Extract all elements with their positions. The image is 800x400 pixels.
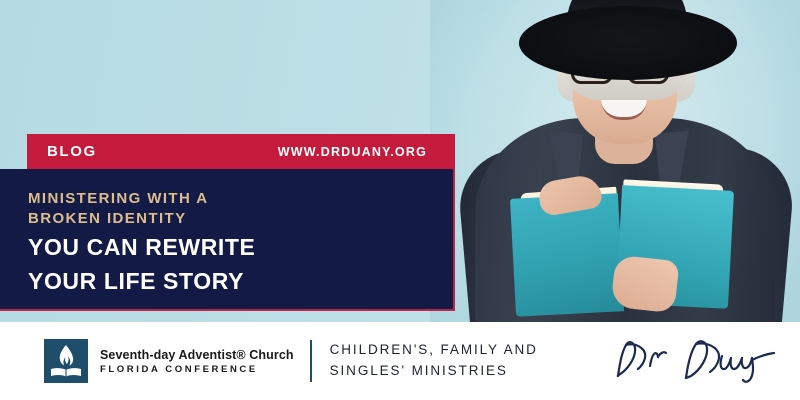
blog-label: BLOG bbox=[47, 143, 97, 160]
ministries-line-1: CHILDREN'S, FAMILY AND bbox=[330, 340, 538, 361]
hand-right bbox=[610, 255, 679, 313]
footer-divider bbox=[310, 340, 312, 382]
footer: Seventh-day Adventist® Church FLORIDA CO… bbox=[0, 322, 800, 400]
blog-bar: BLOG WWW.DRDUANY.ORG bbox=[27, 134, 455, 169]
kicker-line-1: MINISTERING WITH A bbox=[28, 189, 453, 209]
sda-wordmark-line-2: FLORIDA CONFERENCE bbox=[100, 364, 294, 375]
headline-line-2: YOUR LIFE STORY bbox=[28, 268, 453, 296]
ministries-line-2: SINGLES' MINISTRIES bbox=[330, 361, 538, 382]
headline-box: MINISTERING WITH A BROKEN IDENTITY YOU C… bbox=[0, 169, 455, 311]
sda-wordmark: Seventh-day Adventist® Church FLORIDA CO… bbox=[100, 348, 294, 375]
ministries-title: CHILDREN'S, FAMILY AND SINGLES' MINISTRI… bbox=[330, 340, 538, 382]
kicker-line-2: BROKEN IDENTITY bbox=[28, 209, 453, 229]
sda-flame-book-logo-icon bbox=[44, 339, 88, 383]
blog-promo-banner: BLOG WWW.DRDUANY.ORG MINISTERING WITH A … bbox=[0, 0, 800, 400]
signature-dr-duany bbox=[606, 332, 778, 390]
hat-brim bbox=[519, 6, 737, 80]
photo-woman-with-book bbox=[455, 0, 800, 322]
sda-wordmark-line-1: Seventh-day Adventist® Church bbox=[100, 348, 294, 362]
website-url[interactable]: WWW.DRDUANY.ORG bbox=[278, 145, 427, 159]
headline-line-1: YOU CAN REWRITE bbox=[28, 234, 453, 262]
